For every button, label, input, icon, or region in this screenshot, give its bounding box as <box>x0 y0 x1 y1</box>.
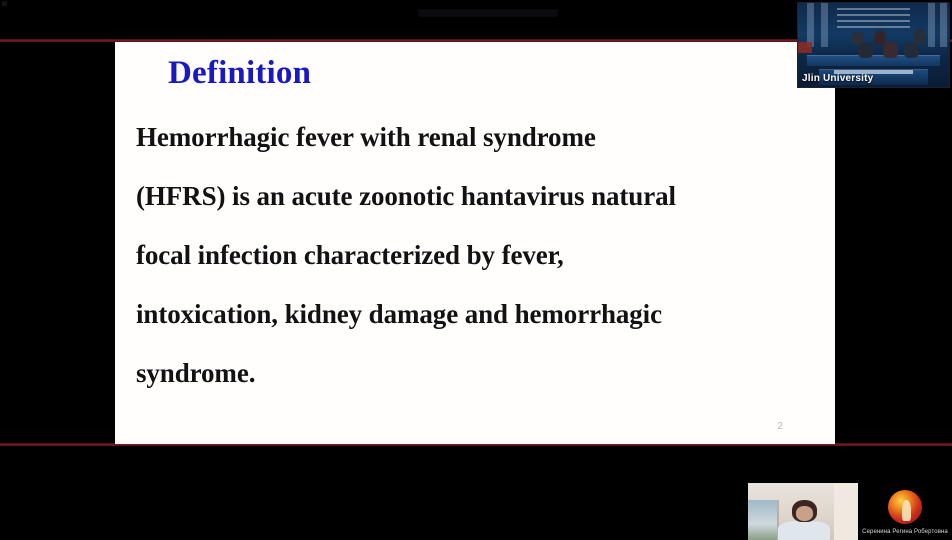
presentation-slide[interactable]: Definition Hemorrhagic fever with renal … <box>115 42 835 444</box>
slide-page-number: 2 <box>777 421 783 432</box>
avatar-figure <box>902 500 911 521</box>
slide-body-line: Hemorrhagic fever with renal syndrome <box>136 108 816 167</box>
slide-body-line: intoxication, kidney damage and hemorrha… <box>136 285 816 344</box>
webcam-person-face <box>796 506 814 521</box>
screen-corner-artifact <box>2 1 7 6</box>
avatar <box>888 490 922 524</box>
slide-title: Definition <box>168 55 311 92</box>
conference-wall-panel <box>940 3 947 47</box>
conference-attendee <box>874 31 886 45</box>
slide-body-line: (HFRS) is an acute zoonotic hantavirus n… <box>136 167 816 226</box>
conference-attendee <box>913 29 927 44</box>
conference-speaker <box>904 43 919 58</box>
conference-wall-panel <box>807 3 814 47</box>
video-tile-conference[interactable]: Jlin University <box>797 2 950 88</box>
video-tile-webcam[interactable] <box>748 483 858 540</box>
conference-red-strip <box>798 42 812 53</box>
conference-speaker <box>883 42 898 58</box>
slide-body-text: Hemorrhagic fever with renal syndrome (H… <box>136 108 816 403</box>
slide-body-line: syndrome. <box>136 344 816 403</box>
conference-backdrop-banner <box>837 8 909 32</box>
screen-share-stage: Definition Hemorrhagic fever with renal … <box>0 0 952 540</box>
avatar-participant-name: Серенина Регина Робертовна <box>858 529 952 535</box>
video-tile-avatar[interactable]: Серенина Регина Робертовна <box>858 483 952 540</box>
webcam-person-body <box>778 521 831 540</box>
slide-body-line: focal infection characterized by fever, <box>136 226 816 285</box>
webcam-window <box>748 500 779 540</box>
webcam-wall <box>834 483 858 540</box>
conference-speaker <box>858 43 873 58</box>
top-bar-artifact <box>418 9 558 17</box>
webcam-room-background <box>748 483 858 540</box>
conference-desk-back <box>807 55 940 66</box>
conference-wall-panel <box>821 3 828 47</box>
conference-wall-panel <box>928 3 935 47</box>
conference-tile-label: Jlin University <box>802 73 873 84</box>
